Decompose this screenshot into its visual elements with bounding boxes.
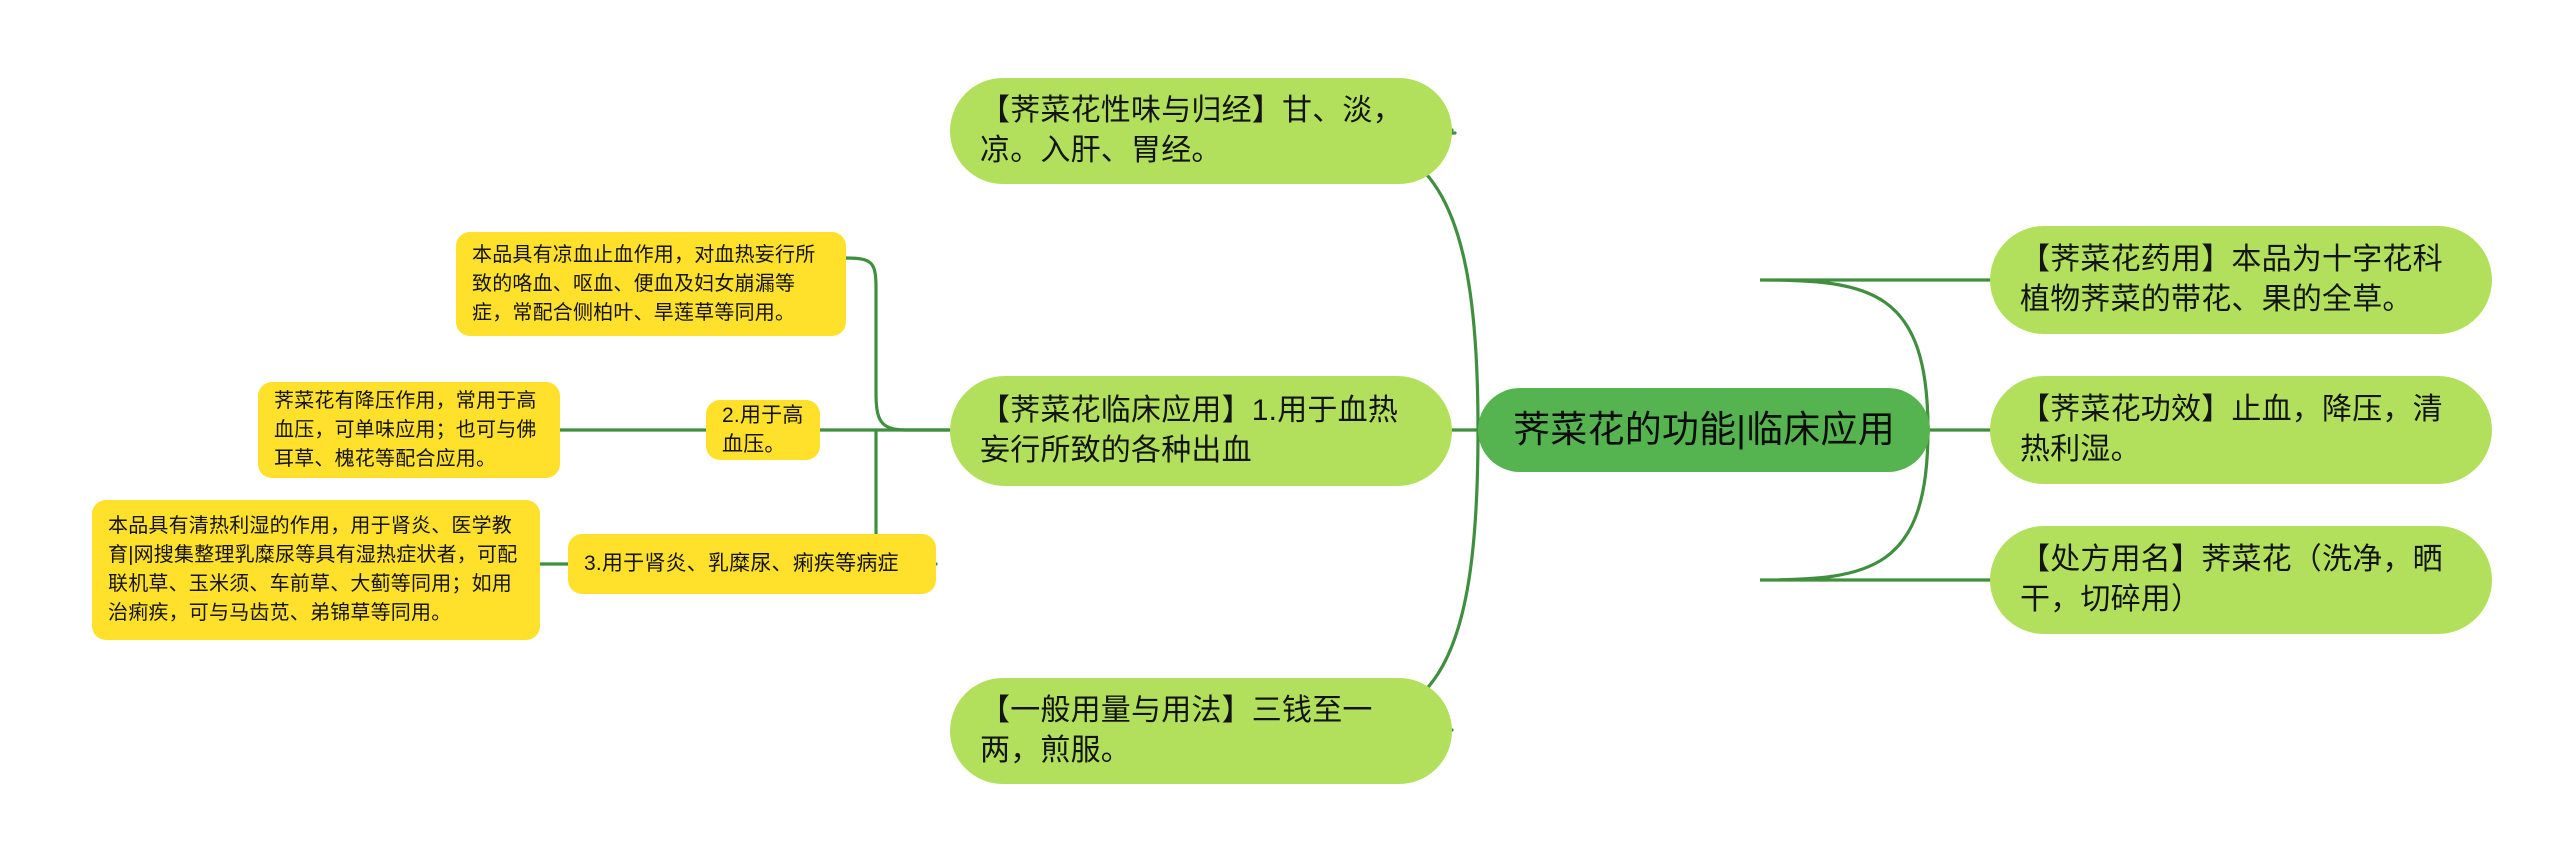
branch-node-prescription-name-label: 【处方用名】荠菜花（洗净，晒干，切碎用） [2020, 540, 2462, 621]
leaf-node-item3-title-label: 3.用于肾炎、乳糜尿、痢疾等病症 [584, 549, 920, 578]
branch-node-prescription-name[interactable]: 【处方用名】荠菜花（洗净，晒干，切碎用） [1990, 526, 2492, 634]
leaf-node-item3-detail[interactable]: 本品具有清热利湿的作用，用于肾炎、医学教育|网搜集整理乳糜尿等具有湿热症状者，可… [92, 500, 540, 640]
branch-node-dosage-usage[interactable]: 【一般用量与用法】三钱至一两，煎服。 [950, 678, 1452, 784]
leaf-node-item3-detail-label: 本品具有清热利湿的作用，用于肾炎、医学教育|网搜集整理乳糜尿等具有湿热症状者，可… [108, 512, 524, 628]
branch-node-medicinal-use-label: 【荠菜花药用】本品为十字花科植物荠菜的带花、果的全草。 [2020, 240, 2462, 321]
leaf-node-item1-detail[interactable]: 本品具有凉血止血作用，对血热妄行所致的咯血、呕血、便血及妇女崩漏等症，常配合侧柏… [456, 232, 846, 336]
connector-branch-to-leaf-1 [846, 258, 950, 430]
branch-node-efficacy-label: 【荠菜花功效】止血，降压，清热利湿。 [2020, 390, 2462, 471]
root-node-label: 荠菜花的功能|临床应用 [1512, 405, 1896, 455]
leaf-node-item1-detail-label: 本品具有凉血止血作用，对血热妄行所致的咯血、呕血、便血及妇女崩漏等症，常配合侧柏… [472, 241, 830, 328]
leaf-node-item2-title-label: 2.用于高血压。 [722, 401, 804, 460]
leaf-node-item2-detail-label: 荠菜花有降压作用，常用于高血压，可单味应用；也可与佛耳草、槐花等配合应用。 [274, 387, 544, 474]
leaf-node-item2-title[interactable]: 2.用于高血压。 [706, 400, 820, 460]
branch-node-properties-meridians[interactable]: 【荠菜花性味与归经】甘、淡，凉。入肝、胃经。 [950, 78, 1452, 184]
branch-node-properties-meridians-label: 【荠菜花性味与归经】甘、淡，凉。入肝、胃经。 [980, 91, 1422, 172]
branch-node-medicinal-use[interactable]: 【荠菜花药用】本品为十字花科植物荠菜的带花、果的全草。 [1990, 226, 2492, 334]
branch-node-dosage-usage-label: 【一般用量与用法】三钱至一两，煎服。 [980, 691, 1422, 772]
leaf-node-item3-title[interactable]: 3.用于肾炎、乳糜尿、痢疾等病症 [568, 534, 936, 594]
branch-node-clinical-application-label: 【荠菜花临床应用】1.用于血热妄行所致的各种出血 [980, 391, 1422, 472]
root-node[interactable]: 荠菜花的功能|临床应用 [1478, 388, 1930, 472]
branch-node-clinical-application[interactable]: 【荠菜花临床应用】1.用于血热妄行所致的各种出血 [950, 376, 1452, 486]
leaf-node-item2-detail[interactable]: 荠菜花有降压作用，常用于高血压，可单味应用；也可与佛耳草、槐花等配合应用。 [258, 382, 560, 478]
mindmap-canvas: 荠菜花的功能|临床应用 【荠菜花性味与归经】甘、淡，凉。入肝、胃经。 【荠菜花临… [0, 0, 2560, 851]
branch-node-efficacy[interactable]: 【荠菜花功效】止血，降压，清热利湿。 [1990, 376, 2492, 484]
